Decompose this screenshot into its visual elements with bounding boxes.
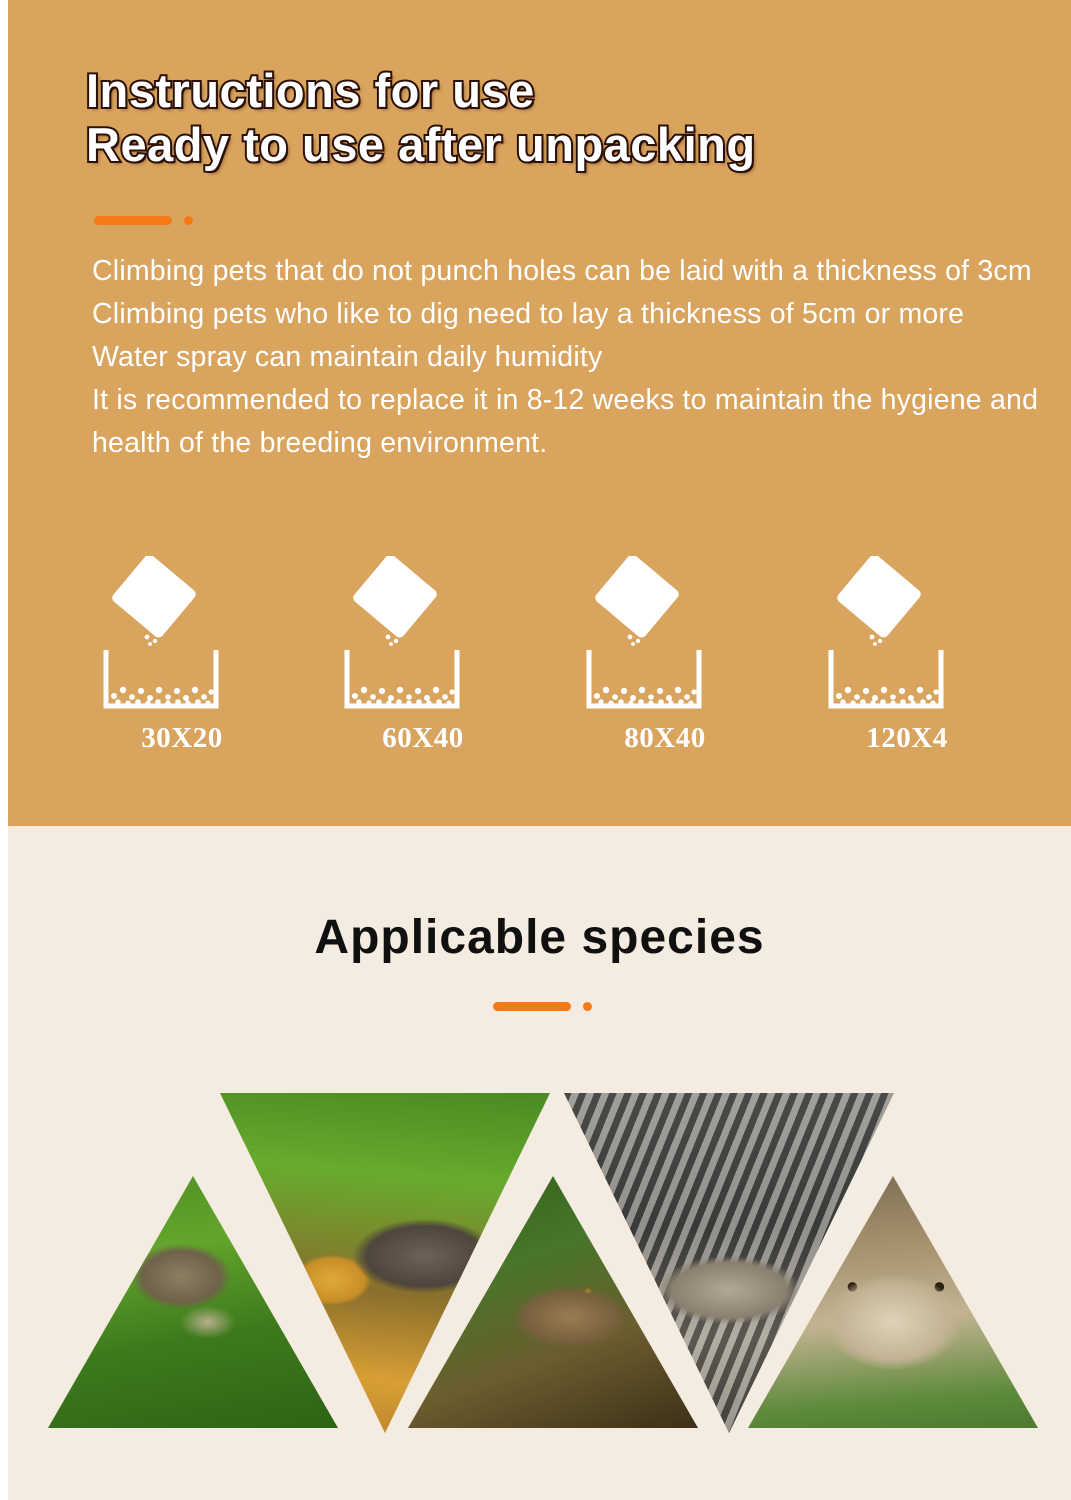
species-divider: [493, 1002, 592, 1011]
size-label: 120X4: [817, 722, 997, 755]
instructions-heading: Instructions for use Ready to use after …: [86, 64, 986, 172]
heading-line-1: Instructions for use: [86, 64, 986, 118]
orange-dot-icon: [583, 1002, 592, 1011]
bag-pouring-into-tank-icon: [575, 556, 755, 716]
orange-bar-icon: [94, 216, 172, 225]
species-photo-collage: [8, 1078, 1071, 1430]
instruction-line: Water spray can maintain daily humidity: [92, 336, 1047, 379]
instructions-divider: [94, 216, 193, 225]
heading-line-2: Ready to use after unpacking: [86, 118, 986, 172]
instruction-line: It is recommended to replace it in 8-12 …: [92, 379, 1047, 465]
species-panel: Applicable species: [8, 826, 1071, 1500]
size-icon-cell: 60X40: [333, 556, 548, 771]
instructions-panel: Instructions for use Ready to use after …: [8, 0, 1071, 826]
orange-bar-icon: [493, 1002, 571, 1011]
size-label: 30X20: [92, 722, 272, 755]
size-icon-row: 30X20: [92, 556, 1071, 771]
orange-dot-icon: [184, 216, 193, 225]
size-label: 60X40: [333, 722, 513, 755]
bag-pouring-into-tank-icon: [92, 556, 272, 716]
size-icon-cell: 120X4: [817, 556, 1032, 771]
instruction-line: Climbing pets that do not punch holes ca…: [92, 250, 1047, 293]
size-icon-cell: 80X40: [575, 556, 790, 771]
size-icon-cell: 30X20: [92, 556, 307, 771]
instructions-body: Climbing pets that do not punch holes ca…: [92, 250, 1047, 465]
instruction-line: Climbing pets who like to dig need to la…: [92, 293, 1047, 336]
bag-pouring-into-tank-icon: [333, 556, 513, 716]
bag-pouring-into-tank-icon: [817, 556, 997, 716]
species-title: Applicable species: [8, 910, 1071, 965]
size-label: 80X40: [575, 722, 755, 755]
